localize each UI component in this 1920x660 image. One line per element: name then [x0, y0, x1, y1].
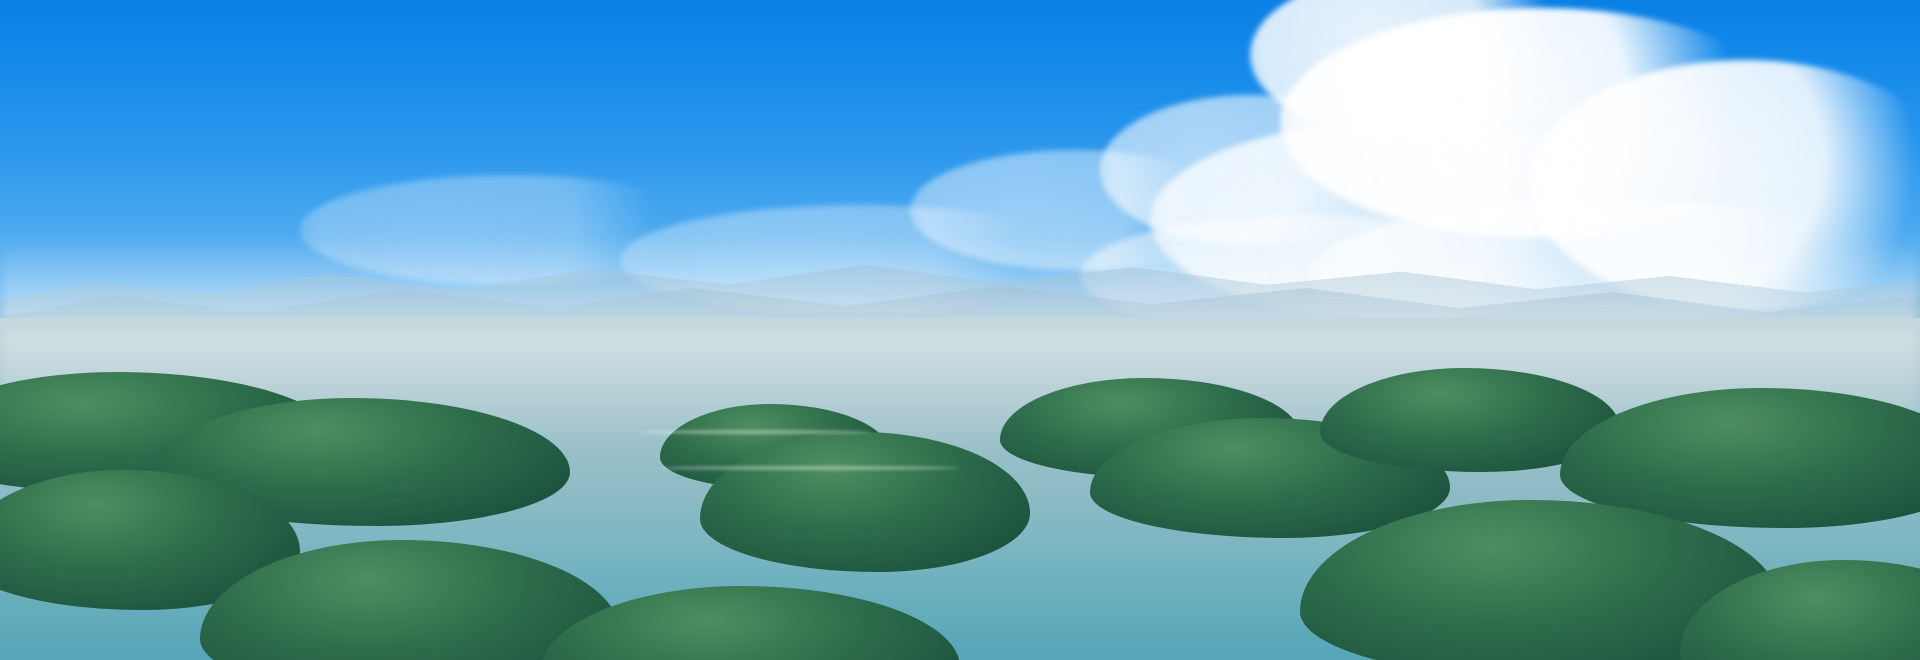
boat-wake	[660, 466, 960, 470]
hero-banner: 诚信 互利 双赢 共存 公司集科研、开发、制造和销售为一体。自建厂以来以专业生产…	[0, 0, 1920, 660]
boat-wake	[640, 430, 870, 434]
